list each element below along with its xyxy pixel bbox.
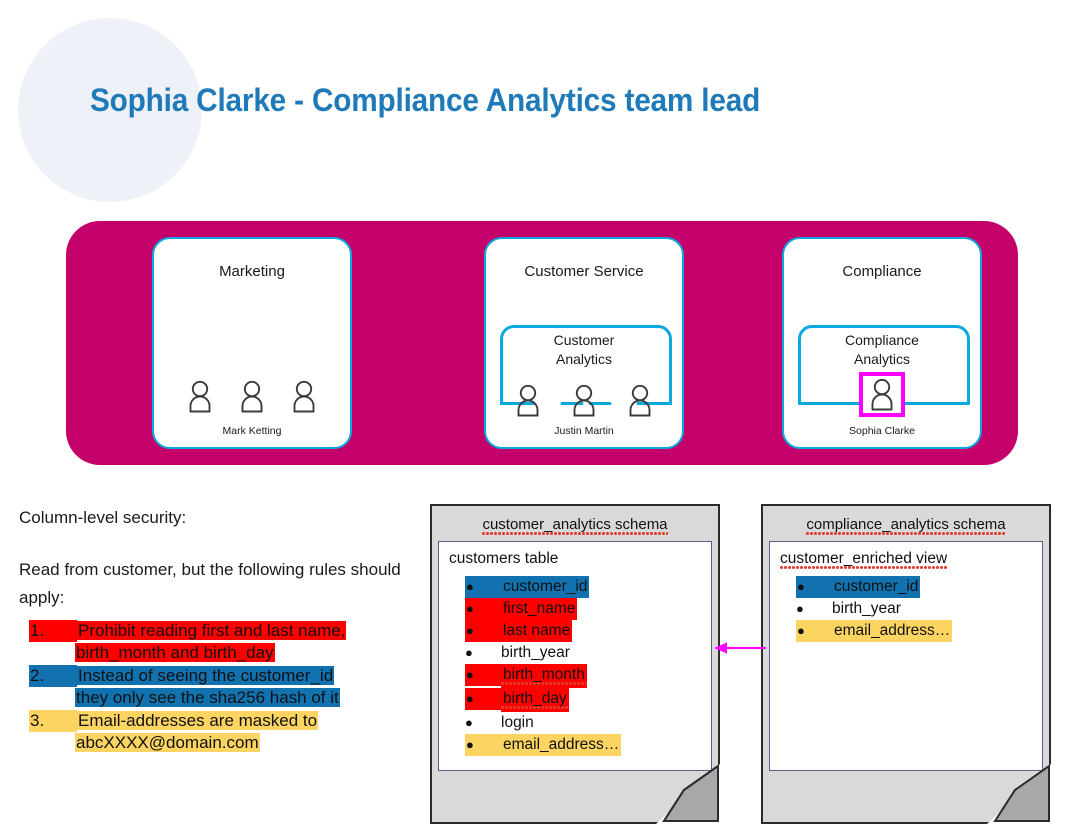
department-lead-name-customer-service: Justin Martin (486, 425, 682, 437)
security-intro-text: Read from customer, but the following ru… (19, 556, 409, 612)
list-item: ●first_name (465, 598, 705, 620)
department-title-customer-service: Customer Service (486, 263, 682, 280)
page-title: Sophia Clarke - Compliance Analytics tea… (90, 82, 964, 119)
person-row-customer-analytics (486, 383, 682, 417)
schema-field-list: ●customer_id ●birth_year ●email_address… (796, 576, 1036, 642)
analytics-label-line2: Analytics (556, 351, 612, 367)
field-bullet: ● (465, 576, 501, 598)
rule-text-line2: birth_month and birth_day (75, 643, 275, 662)
field-name: birth_year (499, 642, 572, 664)
security-heading: Column-level security: (19, 508, 186, 528)
rule-item-continuation: they only see the sha256 hash of it (29, 687, 409, 709)
page-fold-corner-icon (656, 764, 720, 824)
person-icon (625, 383, 655, 417)
department-card-marketing[interactable]: Marketing Mark Ketting (152, 237, 352, 449)
field-name: login (499, 712, 536, 734)
schema-link-arrow-icon (714, 638, 766, 658)
analytics-box-label-customer: Customer Analytics (500, 331, 668, 369)
list-item: ●birth_year (796, 598, 1036, 620)
field-bullet: ● (796, 598, 830, 620)
field-name: birth_year (830, 598, 903, 620)
rule-item: 1. Prohibit reading first and last name, (29, 620, 409, 642)
rule-item: 3. Email-addresses are masked to (29, 710, 409, 732)
rule-indent-spacer (29, 732, 75, 754)
schema-view-name: customer_enriched view (780, 550, 947, 568)
schema-document-customer-analytics[interactable]: customer_analytics schema customers tabl… (430, 504, 720, 824)
rule-text-line1: Email-addresses are masked to (77, 711, 318, 730)
field-bullet: ● (796, 576, 832, 598)
rule-item: 2. Instead of seeing the customer_id (29, 665, 409, 687)
person-icon-highlighted[interactable] (859, 372, 905, 417)
list-item: ●email_address… (796, 620, 1036, 642)
field-bullet: ● (796, 620, 832, 642)
department-title-marketing: Marketing (154, 263, 350, 280)
rule-item-continuation: abcXXXX@domain.com (29, 732, 409, 754)
field-bullet: ● (465, 712, 499, 734)
department-card-customer-service[interactable]: Customer Service Customer Analytics (484, 237, 684, 449)
page-fold-corner-icon (987, 764, 1051, 824)
list-item: ●customer_id (796, 576, 1036, 598)
field-name: last name (501, 620, 572, 642)
field-bullet: ● (465, 664, 501, 686)
schema-title-text: compliance_analytics schema (806, 516, 1005, 538)
list-item: ●birth_month (465, 664, 705, 688)
rule-text-line1: Prohibit reading first and last name, (77, 621, 346, 640)
person-icon (569, 383, 599, 417)
department-lead-name-marketing: Mark Ketting (154, 425, 350, 437)
rule-indent-spacer (29, 687, 75, 709)
list-item: ●customer_id (465, 576, 705, 598)
field-name: first_name (501, 598, 577, 620)
field-bullet: ● (465, 598, 501, 620)
rule-number: 2. (29, 665, 77, 687)
rule-text-line2: they only see the sha256 hash of it (75, 688, 340, 707)
schema-document-title: customer_analytics schema (432, 516, 718, 533)
schema-document-title: compliance_analytics schema (763, 516, 1049, 533)
person-row-marketing (154, 379, 350, 413)
field-name: customer_id (832, 576, 920, 598)
department-title-compliance: Compliance (784, 263, 980, 280)
security-rules-list: 1. Prohibit reading first and last name,… (29, 620, 409, 754)
analytics-label-line1: Customer (554, 332, 615, 348)
field-name: customer_id (501, 576, 589, 598)
person-icon (237, 379, 267, 413)
field-bullet: ● (465, 620, 501, 642)
rule-text-line1: Instead of seeing the customer_id (77, 666, 334, 685)
list-item: ●birth_year (465, 642, 705, 664)
analytics-box-label-compliance: Compliance Analytics (798, 331, 966, 369)
field-bullet: ● (465, 688, 501, 710)
person-row-compliance-analytics (784, 372, 980, 417)
person-icon (513, 383, 543, 417)
list-item: ●last name (465, 620, 705, 642)
field-name: email_address… (832, 620, 952, 642)
rule-text-line2: abcXXXX@domain.com (75, 733, 260, 752)
person-icon (289, 379, 319, 413)
analytics-label-line2: Analytics (854, 351, 910, 367)
schema-document-inner-panel: customer_enriched view ●customer_id ●bir… (769, 541, 1043, 771)
schema-document-compliance-analytics[interactable]: compliance_analytics schema customer_enr… (761, 504, 1051, 824)
field-bullet: ● (465, 734, 501, 756)
person-icon (185, 379, 215, 413)
rule-item-continuation: birth_month and birth_day (29, 642, 409, 664)
list-item: ●login (465, 712, 705, 734)
org-structure-panel: Marketing Mark Ketting Customer Service (66, 221, 1018, 465)
field-name: email_address… (501, 734, 621, 756)
list-item: ●birth_day (465, 688, 705, 712)
department-lead-name-compliance: Sophia Clarke (784, 425, 980, 437)
schema-document-inner-panel: customers table ●customer_id ●first_name… (438, 541, 712, 771)
schema-table-name: customers table (449, 550, 558, 568)
analytics-label-line1: Compliance (845, 332, 919, 348)
field-name: birth_day (501, 688, 569, 712)
schema-field-list: ●customer_id ●first_name ●last name ●bir… (465, 576, 705, 756)
department-card-compliance[interactable]: Compliance Compliance Analytics Sophia C… (782, 237, 982, 449)
schema-title-text: customer_analytics schema (482, 516, 667, 538)
field-name: birth_month (501, 664, 587, 688)
list-item: ●email_address… (465, 734, 705, 756)
rule-number: 1. (29, 620, 77, 642)
rule-indent-spacer (29, 642, 75, 664)
rule-number: 3. (29, 710, 77, 732)
field-bullet: ● (465, 642, 499, 664)
